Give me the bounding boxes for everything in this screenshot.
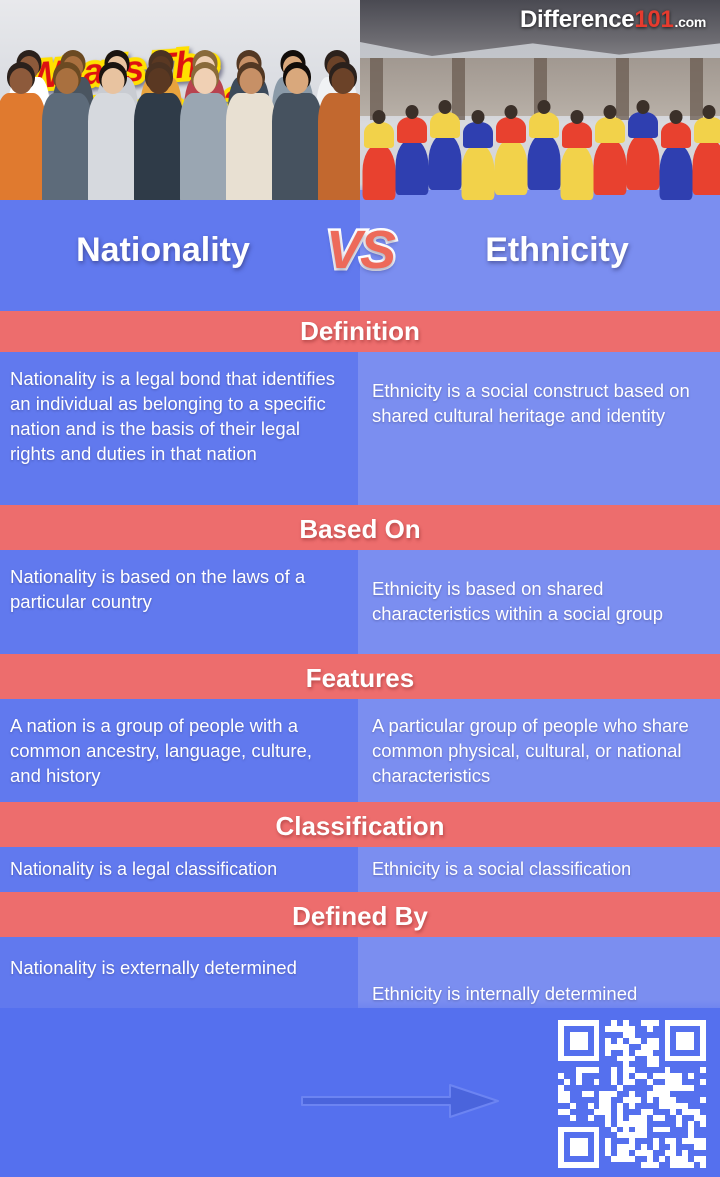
hanbok-dancer [527,100,561,196]
person-figure [316,62,360,200]
dancer-jeogori [463,122,493,148]
group-of-diverse-people-photo [0,0,360,200]
person-head [194,68,217,94]
person-head [148,68,171,94]
hanbok-dancer [428,100,462,196]
hanbok-dancer [626,100,660,196]
dancer-chima [594,139,627,195]
logo-main-text: Difference [520,6,634,34]
section-body-classification: Nationality is a legal classificationEth… [0,847,720,892]
section-header-classification: Classification [0,806,720,847]
dancer-head [637,100,650,114]
dancer-head [373,110,386,124]
comparison-table: DefinitionNationality is a legal bond th… [0,311,720,1033]
hanbok-dancer [395,105,429,196]
dancer-jeogori [430,112,460,138]
person-torso [318,93,360,200]
cell-left-basedon: Nationality is based on the laws of a pa… [0,550,358,654]
person-head [10,68,33,94]
person-head [332,68,355,94]
site-logo[interactable]: Difference 101 .com [520,6,706,34]
section-body-features: A nation is a group of people with a com… [0,699,720,802]
dancer-jeogori [496,117,526,143]
person-torso [180,93,230,200]
qr-code[interactable] [558,1020,706,1168]
right-arrow-icon [300,1083,500,1119]
person-torso [272,93,322,200]
dancer-head [406,105,419,119]
hanbok-dancer [560,110,594,196]
logo-suffix-text: .com [675,14,706,30]
cell-right-classification: Ethnicity is a social classification [358,847,720,892]
hanbok-dancer [362,110,396,196]
dancer-jeogori [562,122,592,148]
dancer-chima [561,144,594,200]
title-right-ethnicity: Ethnicity [360,231,720,270]
dancer-head [505,105,518,119]
person-torso [226,93,276,200]
infographic-root: Difference 101 .com Nationality Ethnicit… [0,0,720,1177]
dancer-head [538,100,551,114]
cell-left-definition: Nationality is a legal bond that identif… [0,352,358,505]
section-header-definedby: Defined By [0,896,720,937]
person-head [56,68,79,94]
dancer-head [439,100,452,114]
cell-left-classification: Nationality is a legal classification [0,847,358,892]
hero-image-left [0,0,360,200]
dancer-head [472,110,485,124]
cell-right-features: A particular group of people who share c… [358,699,720,802]
hanbok-dancer [461,110,495,196]
hanbok-dancer [593,105,627,196]
person-head [240,68,263,94]
dancer-chima [396,139,429,195]
section-header-definition: Definition [0,311,720,352]
person-torso [134,93,184,200]
dancer-jeogori [661,122,691,148]
dancer-chima [528,134,561,190]
logo-accent-text: 101 [634,6,673,34]
dancer-jeogori [364,122,394,148]
dancer-chima [495,139,528,195]
section-body-definition: Nationality is a legal bond that identif… [0,352,720,505]
person-torso [88,93,138,200]
dancer-jeogori [397,117,427,143]
dancer-jeogori [595,117,625,143]
dancer-chima [363,144,396,200]
dancer-chima [462,144,495,200]
dancer-head [670,110,683,124]
section-header-features: Features [0,658,720,699]
hero-images: Difference 101 .com [0,0,720,200]
cell-right-basedon: Ethnicity is based on shared characteris… [358,550,720,654]
dancer-jeogori [628,112,658,138]
cell-left-features: A nation is a group of people with a com… [0,699,358,802]
dancer-jeogori [694,117,720,143]
section-body-basedon: Nationality is based on the laws of a pa… [0,550,720,654]
dancer-head [604,105,617,119]
dancer-head [703,105,716,119]
person-head [102,68,125,94]
title-bar: Nationality Ethnicity VS [0,190,720,311]
title-left-nationality: Nationality [0,231,360,270]
vs-badge: VS [326,218,394,280]
dancer-chima [693,139,720,195]
cell-right-definition: Ethnicity is a social construct based on… [358,352,720,505]
hanbok-dancer [659,110,693,196]
hanbok-dancer [692,105,720,196]
dancer-chima [660,144,693,200]
qr-module [700,1162,706,1168]
person-head [286,68,309,94]
section-header-basedon: Based On [0,509,720,550]
person-torso [42,93,92,200]
dancer-head [571,110,584,124]
hanbok-dancer [494,105,528,196]
dancer-chima [627,134,660,190]
dancer-jeogori [529,112,559,138]
dancer-chima [429,134,462,190]
